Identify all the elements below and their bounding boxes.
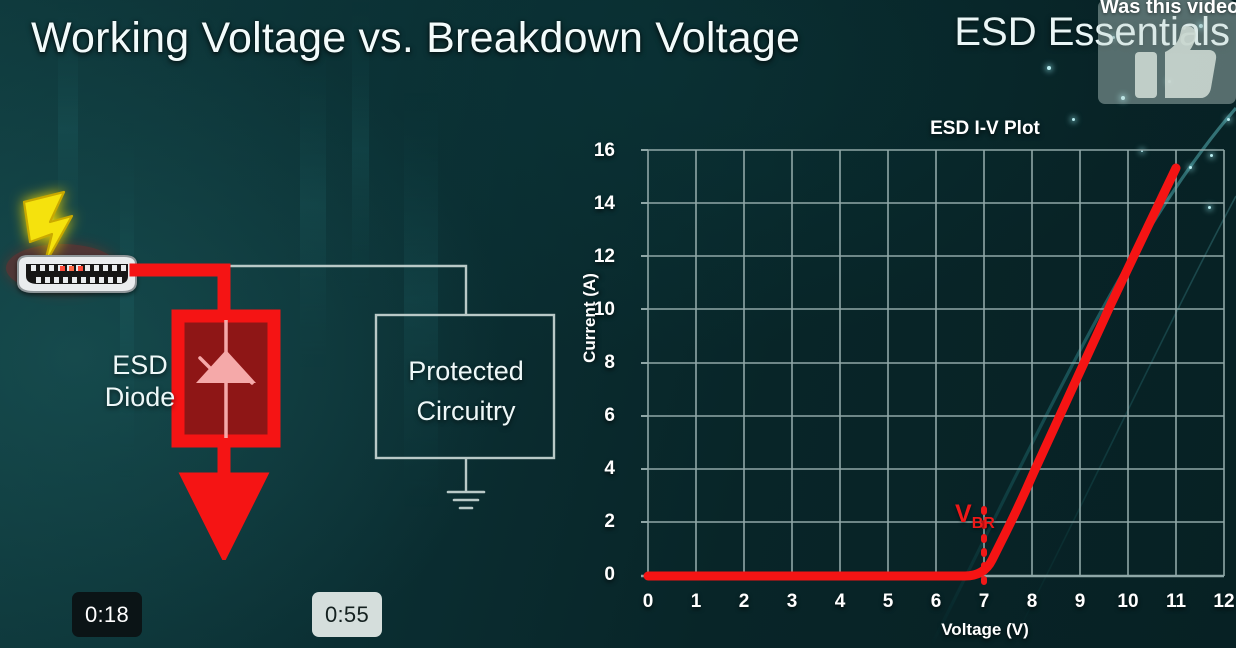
timestamp-badge-start[interactable]: 0:18 — [72, 592, 142, 637]
protected-circuitry-line1: Protected — [378, 352, 554, 392]
esd-diode-label-line2: Diode — [88, 382, 192, 414]
esd-iv-curve — [648, 168, 1176, 576]
protected-circuitry-line2: Circuitry — [378, 392, 554, 432]
esd-trace — [136, 270, 224, 316]
chart-axis-ticks — [641, 150, 648, 576]
vbr-subscript: BR — [972, 515, 995, 532]
esd-ground-symbol — [206, 498, 242, 514]
protected-circuitry-label: Protected Circuitry — [378, 352, 554, 432]
timestamp-badge-end[interactable]: 0:55 — [312, 592, 382, 637]
feedback-prompt-text: Was this video — [1100, 0, 1236, 19]
esd-diode-label-line1: ESD — [88, 350, 192, 382]
esd-diode-component — [178, 316, 274, 441]
chart-x-axis-label: Voltage (V) — [575, 620, 1236, 640]
circuit-ground-symbol — [448, 492, 484, 508]
vbr-symbol: V — [955, 500, 972, 528]
hdmi-connector-icon — [18, 256, 136, 292]
esd-iv-chart: ESD I-V Plot Current (A) Voltage (V) 16 … — [575, 108, 1236, 648]
page-title: Working Voltage vs. Breakdown Voltage — [31, 14, 800, 63]
chart-plot-area — [575, 108, 1236, 608]
chart-gridlines — [648, 150, 1224, 576]
thumbs-up-icon[interactable] — [1135, 26, 1217, 100]
esd-diode-label: ESD Diode — [88, 350, 192, 414]
screenshot-root: Working Voltage vs. Breakdown Voltage ES… — [0, 0, 1236, 648]
breakdown-voltage-label: VBR — [955, 500, 995, 533]
